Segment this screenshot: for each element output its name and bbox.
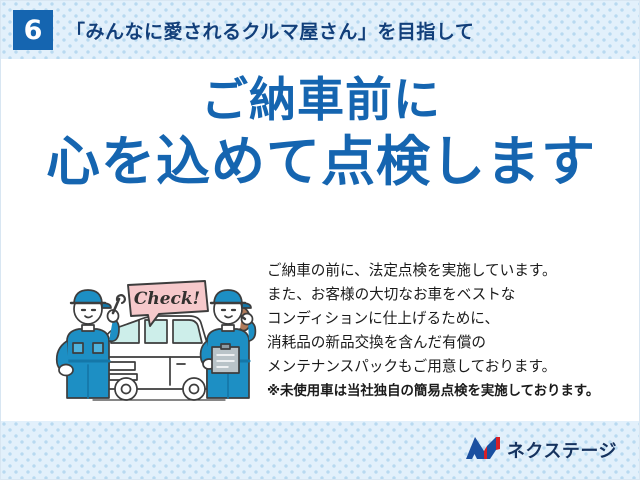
headline-line-2: 心を込めて点検します <box>1 132 640 192</box>
step-number-label: 6 <box>24 17 43 44</box>
brand-logo: ネクステージ <box>466 421 617 479</box>
check-bubble-label: Check! <box>134 289 200 309</box>
nextage-n-logo-icon <box>466 437 500 463</box>
mechanics-illustration: Check! <box>49 269 273 411</box>
brand-name-label: ネクステージ <box>507 437 617 463</box>
page-title: ご納車前に 心を込めて点検します <box>1 75 640 192</box>
header-title: 「みんなに愛されるクルマ屋さん」を目指して <box>66 17 474 44</box>
headline-line-1: ご納車前に <box>1 75 640 128</box>
body-line: ご納車の前に、法定点検を実施しています。 <box>267 259 627 283</box>
body-copy: ご納車の前に、法定点検を実施しています。 また、お客様の大切なお車をベストな コ… <box>267 259 627 403</box>
body-line: また、お客様の大切なお車をベストな <box>267 283 627 307</box>
header: 6 「みんなに愛されるクルマ屋さん」を目指して <box>1 1 640 59</box>
body-line: 消耗品の新品交換を含んだ有償の <box>267 331 627 355</box>
body-line: コンディションに仕上げるために、 <box>267 307 627 331</box>
step-number-badge: 6 <box>13 10 53 50</box>
body-note: ※未使用車は当社独自の簡易点検を実施しております。 <box>267 381 627 403</box>
body-line: メンテナンスパックもご用意しております。 <box>267 355 627 379</box>
promo-poster: 6 「みんなに愛されるクルマ屋さん」を目指して ご納車前に 心を込めて点検します <box>0 0 640 480</box>
right-mechanic <box>201 290 256 398</box>
